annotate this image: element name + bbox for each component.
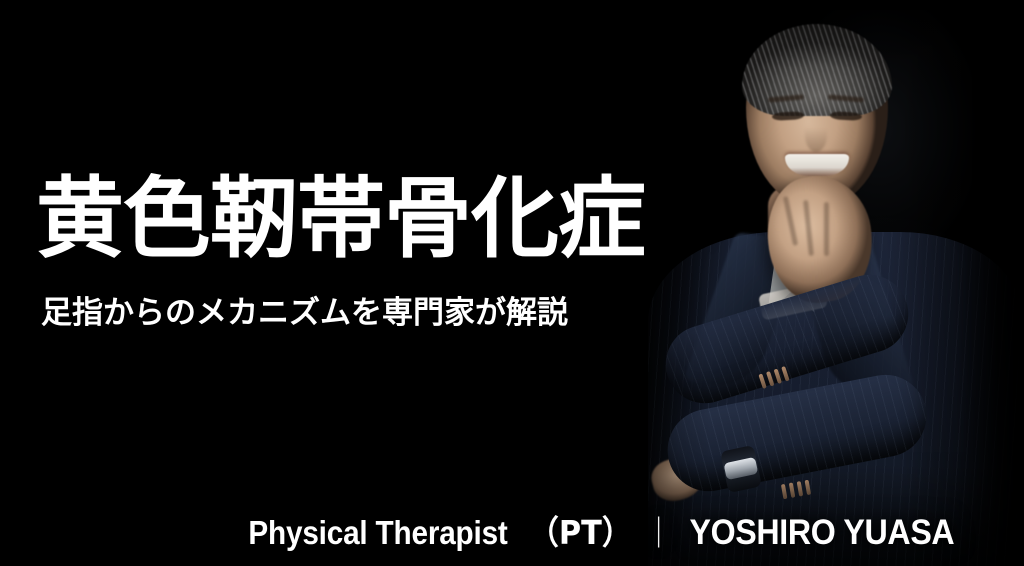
credit-divider: ｜	[643, 508, 674, 553]
text-overlay: 黄色靭帯骨化症 足指からのメカニズムを専門家が解説 Physical Thera…	[0, 0, 1024, 566]
credit-line: Physical Therapist （PT） ｜ YOSHIRO YUASA	[0, 506, 966, 554]
subheadline-text: 足指からのメカニズムを専門家が解説	[41, 297, 568, 330]
headline-title: 黄色靭帯骨化症	[36, 175, 645, 263]
video-thumbnail-banner: 黄色靭帯骨化症 足指からのメカニズムを専門家が解説 Physical Thera…	[0, 0, 1024, 566]
credit-role: Physical Therapist	[249, 514, 508, 552]
credit-role-abbrev: （PT）	[529, 506, 633, 554]
credit-person-name: YOSHIRO YUASA	[690, 513, 955, 553]
